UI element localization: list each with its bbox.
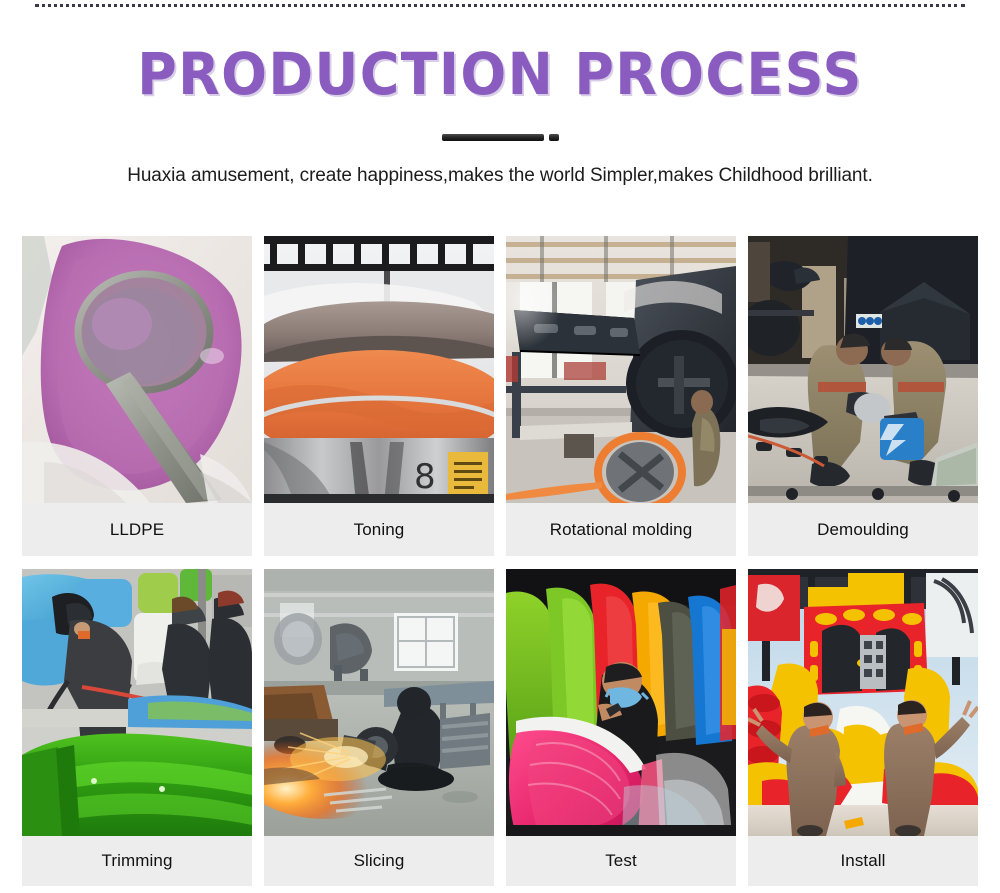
section-header: PRODUCTION PROCESS Huaxia amusement, cre… (0, 42, 1000, 189)
card-caption: Demoulding (748, 503, 978, 556)
top-dotted-divider (35, 4, 965, 7)
installation-team-photo (748, 569, 978, 836)
card-caption: Install (748, 836, 978, 886)
card-caption: Rotational molding (506, 503, 736, 556)
process-card-test[interactable]: Test (506, 569, 736, 886)
trimming-worker-photo (22, 569, 252, 836)
process-card-toning[interactable]: 8 Toning (264, 236, 494, 556)
divider-dot (549, 134, 559, 141)
production-process-page: PRODUCTION PROCESS Huaxia amusement, cre… (0, 0, 1000, 893)
process-card-trimming[interactable]: Trimming (22, 569, 252, 886)
title-underline-divider (0, 133, 1000, 142)
svg-text:8: 8 (414, 457, 436, 497)
page-subtitle: Huaxia amusement, create happiness,makes… (0, 163, 1000, 189)
card-caption: Trimming (22, 836, 252, 886)
slicing-sparks-photo (264, 569, 494, 836)
process-card-rotational-molding[interactable]: Rotational molding (506, 236, 736, 556)
process-card-demoulding[interactable]: Demoulding (748, 236, 978, 556)
demoulding-workers-photo (748, 236, 978, 503)
process-card-lldpe[interactable]: LLDPE (22, 236, 252, 556)
process-card-slicing[interactable]: Slicing (264, 569, 494, 886)
testing-worker-photo (506, 569, 736, 836)
card-caption: Test (506, 836, 736, 886)
mixing-drum-photo: 8 (264, 236, 494, 503)
process-card-install[interactable]: Install (748, 569, 978, 886)
card-caption: Toning (264, 503, 494, 556)
divider-bar (442, 134, 544, 141)
process-gallery-grid: LLDPE (22, 236, 978, 886)
powder-scoop-photo (22, 236, 252, 503)
rotomolding-machine-photo (506, 236, 736, 503)
card-caption: LLDPE (22, 503, 252, 556)
card-caption: Slicing (264, 836, 494, 886)
page-title: PRODUCTION PROCESS (35, 42, 965, 106)
